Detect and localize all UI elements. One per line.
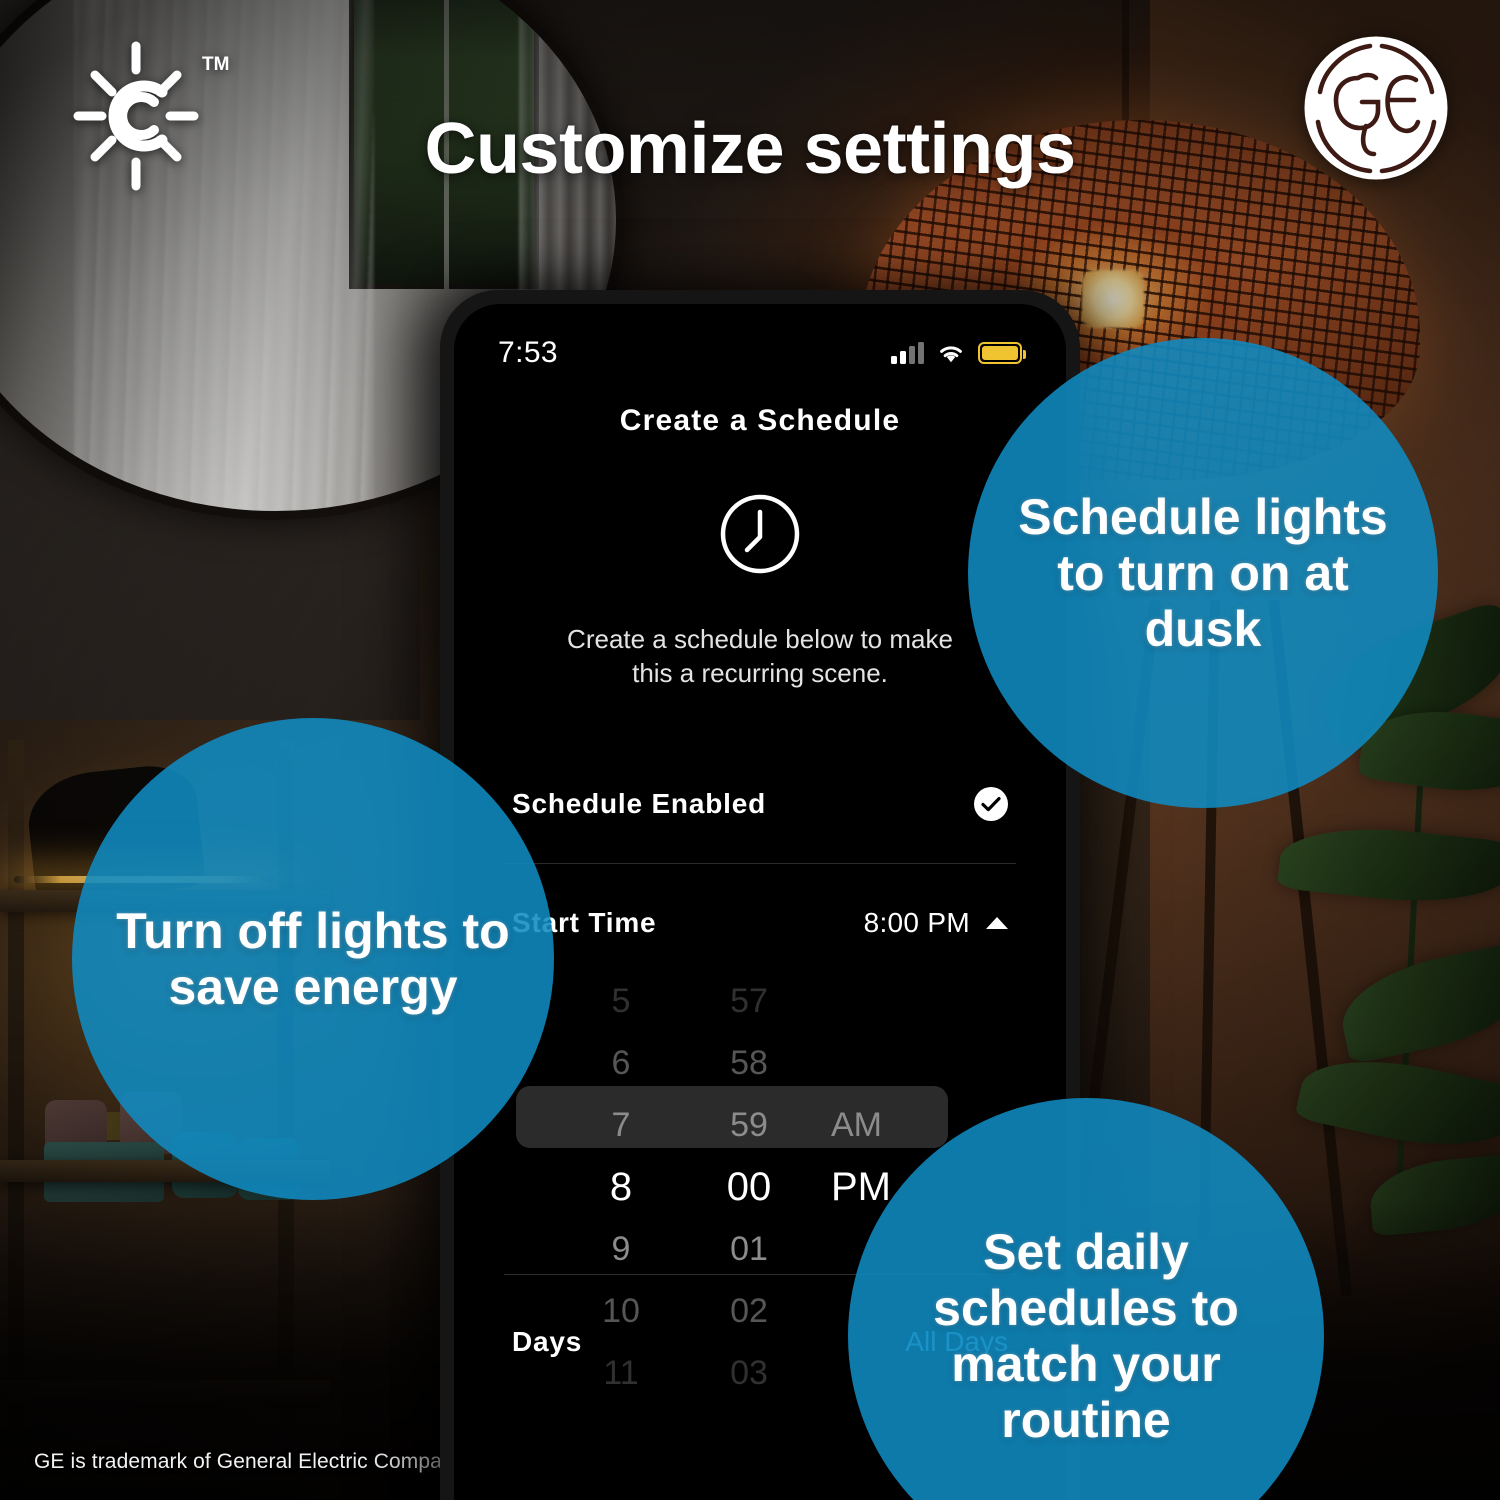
picker-item-minute[interactable]: 57: [685, 970, 813, 1032]
chevron-up-icon[interactable]: [986, 917, 1008, 929]
callout-text: Set daily schedules to match your routin…: [876, 1224, 1296, 1448]
callout-text: Turn off lights to save energy: [106, 903, 520, 1015]
lead-copy: Create a schedule below to make this a r…: [550, 622, 970, 691]
picker-spacer: [831, 1032, 963, 1094]
light-bulb-glow: [1082, 270, 1144, 328]
status-bar-time: 7:53: [498, 336, 558, 370]
callout-bubble-schedule-dusk: Schedule lights to turn on at dusk: [968, 338, 1438, 808]
callout-text: Schedule lights to turn on at dusk: [1002, 489, 1404, 657]
schedule-enabled-label: Schedule Enabled: [512, 788, 766, 820]
wifi-icon: [937, 342, 965, 364]
picker-item-minute[interactable]: 59: [685, 1094, 813, 1156]
cellular-signal-icon: [891, 342, 924, 364]
start-time-value: 8:00 PM: [864, 907, 970, 939]
section-divider: [504, 863, 1016, 864]
picker-item-hour[interactable]: 5: [557, 970, 685, 1032]
picker-column-hours[interactable]: 5 6 7 8 9 10 11: [557, 970, 685, 1404]
status-bar: 7:53: [454, 304, 1066, 374]
screen-title: Create a Schedule: [454, 404, 1066, 438]
picker-item-minute[interactable]: 03: [685, 1342, 813, 1404]
picker-item-hour[interactable]: 11: [557, 1342, 685, 1404]
picker-item-minute[interactable]: 58: [685, 1032, 813, 1094]
picker-item-minute[interactable]: 01: [685, 1218, 813, 1280]
svg-text:TM: TM: [202, 54, 229, 75]
status-bar-icons: [891, 342, 1022, 364]
picker-item-minute[interactable]: 02: [685, 1280, 813, 1342]
picker-item-hour[interactable]: 7: [557, 1094, 685, 1156]
callout-bubble-save-energy: Turn off lights to save energy: [72, 718, 554, 1200]
schedule-enabled-row[interactable]: Schedule Enabled: [454, 761, 1066, 847]
picker-item-hour[interactable]: 10: [557, 1280, 685, 1342]
checkmark-circle-icon[interactable]: [974, 787, 1008, 821]
battery-low-power-icon: [978, 342, 1022, 364]
picker-column-minutes[interactable]: 57 58 59 00 01 02 03: [685, 970, 813, 1404]
promo-image-canvas: TM Customize settings GE is trademark of…: [0, 0, 1500, 1500]
picker-item-hour[interactable]: 9: [557, 1218, 685, 1280]
picker-item-hour-selected[interactable]: 8: [557, 1156, 685, 1218]
page-title: Customize settings: [0, 108, 1500, 190]
picker-item-minute-selected[interactable]: 00: [685, 1156, 813, 1218]
picker-item-hour[interactable]: 6: [557, 1032, 685, 1094]
picker-spacer: [831, 970, 963, 1032]
start-time-value-group[interactable]: 8:00 PM: [864, 907, 1008, 939]
